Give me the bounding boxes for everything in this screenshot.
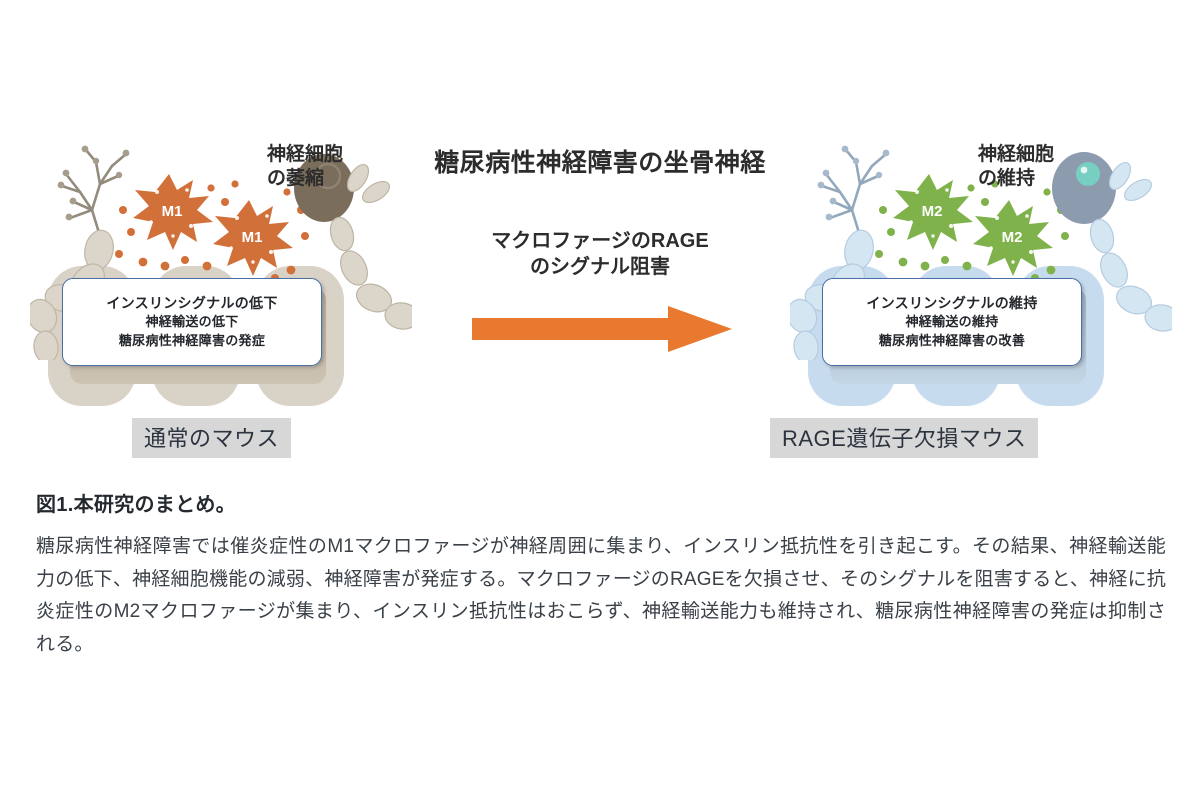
callout-line-1: 神経細胞	[267, 143, 343, 167]
message-line-3: 糖尿病性神経障害の改善	[879, 334, 1025, 348]
callout-neuron-maintenance: 神経細胞 の維持	[978, 143, 1054, 192]
message-line-1: インスリンシグナルの低下	[106, 296, 277, 311]
message-line-3: 糖尿病性神経障害の発症	[119, 334, 265, 348]
callout-line-2: の萎縮	[267, 167, 343, 191]
caption-body: 糖尿病性神経障害では催炎症性のM1マクロファージが神経周囲に集まり、インスリン抵…	[36, 531, 1166, 662]
soma-nucleus	[1076, 162, 1100, 186]
callout-line-2: の維持	[978, 167, 1054, 191]
arrow-label-line-2: のシグナル阻害	[420, 254, 780, 280]
message-line-1: インスリンシグナルの維持	[866, 296, 1037, 311]
figure-caption: 図1.本研究のまとめ。 糖尿病性神経障害では催炎症性のM1マクロファージが神経周…	[36, 488, 1166, 662]
group-label-rage-knockout-mouse: RAGE遺伝子欠損マウス	[770, 418, 1038, 458]
soma-nucleolus	[1081, 167, 1088, 174]
message-line-2: 神経輸送の低下	[145, 315, 238, 329]
arrow-label-line-1: マクロファージのRAGE	[420, 228, 780, 254]
message-line-2: 神経輸送の維持	[905, 315, 998, 329]
macrophage-m1-label-b: M1	[242, 229, 263, 246]
callout-line-1: 神経細胞	[978, 143, 1054, 167]
figure-panel-area: 糖尿病性神経障害の坐骨神経	[0, 118, 1200, 488]
macrophage-m2-label-b: M2	[1002, 229, 1023, 246]
macrophage-m1-label-a: M1	[162, 203, 183, 220]
right-arrow-icon	[472, 306, 732, 352]
callout-neuron-atrophy: 神経細胞 の萎縮	[267, 143, 343, 192]
panel-normal-mouse: M1 M1	[20, 118, 420, 488]
message-box-left: インスリンシグナルの低下 神経輸送の低下 糖尿病性神経障害の発症	[62, 278, 322, 366]
caption-title: 図1.本研究のまとめ。	[36, 488, 1166, 517]
center-transition: マクロファージのRAGE のシグナル阻害	[420, 228, 780, 448]
figure-page: 糖尿病性神経障害の坐骨神経	[0, 0, 1200, 800]
group-label-normal-mouse: 通常のマウス	[132, 418, 291, 458]
macrophage-m2-label-a: M2	[922, 203, 943, 220]
message-box-right: インスリンシグナルの維持 神経輸送の維持 糖尿病性神経障害の改善	[822, 278, 1082, 366]
figure-title: 糖尿病性神経障害の坐骨神経	[400, 143, 800, 179]
